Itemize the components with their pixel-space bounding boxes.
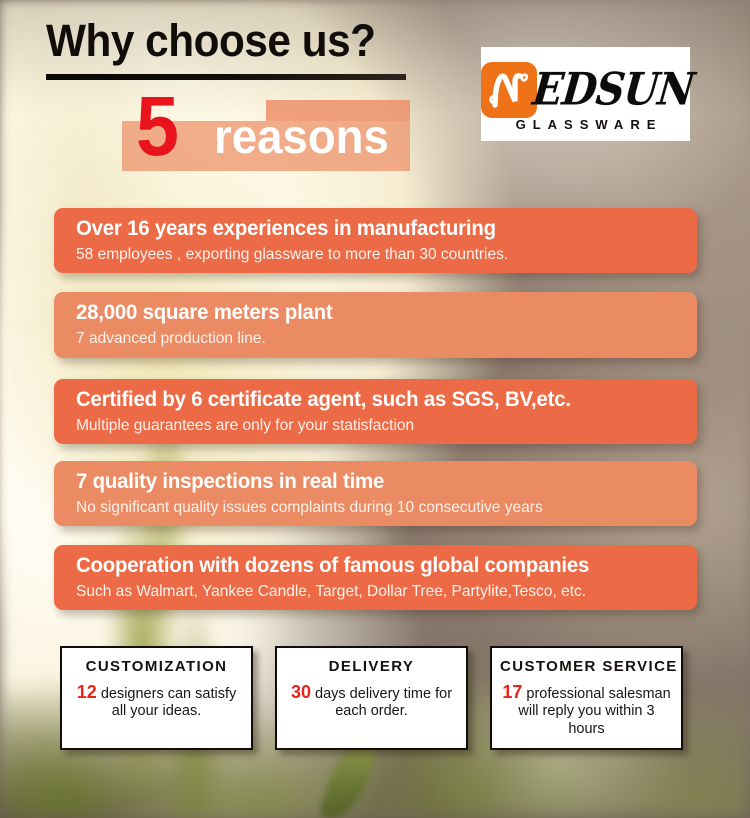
reason-bar-1: Over 16 years experiences in manufacturi… — [54, 208, 697, 273]
reason-title: Over 16 years experiences in manufacturi… — [76, 217, 678, 241]
reason-bar-2: 28,000 square meters plant7 advanced pro… — [54, 292, 697, 358]
reason-title: Cooperation with dozens of famous global… — [76, 554, 678, 578]
info-box-body: 17 professional salesman will reply you … — [500, 682, 673, 739]
info-box-body: 30 days delivery time for each order. — [285, 682, 458, 722]
info-box-text: professional salesman will reply you wit… — [518, 686, 670, 738]
info-box-3: CUSTOMER SERVICE17 professional salesman… — [490, 646, 683, 750]
reason-title: 28,000 square meters plant — [76, 301, 678, 325]
info-box-1: CUSTOMIZATION12 designers can satisfy al… — [60, 646, 253, 750]
reason-subtitle: Multiple guarantees are only for your st… — [76, 416, 678, 435]
page-title: Why choose us? — [46, 18, 376, 63]
info-box-text: days delivery time for each order. — [311, 686, 452, 720]
reason-bar-3: Certified by 6 certificate agent, such a… — [54, 379, 697, 444]
info-box-text: designers can satisfy all your ideas. — [97, 686, 236, 720]
info-box-title: DELIVERY — [285, 659, 458, 676]
logo-tagline: GLASSWARE — [509, 117, 663, 132]
reason-subtitle: 58 employees , exporting glassware to mo… — [76, 245, 678, 264]
info-box-title: CUSTOMIZATION — [70, 659, 243, 676]
info-box-number: 12 — [77, 682, 97, 702]
reason-title: 7 quality inspections in real time — [76, 470, 678, 494]
reason-bar-4: 7 quality inspections in real timeNo sig… — [54, 461, 697, 526]
reason-subtitle: 7 advanced production line. — [76, 329, 678, 348]
title-underline-rule — [46, 74, 406, 80]
reason-count-number: 5 — [136, 84, 179, 168]
company-logo: EDSUN GLASSWARE — [481, 47, 690, 141]
info-box-number: 17 — [502, 682, 522, 702]
reason-bar-5: Cooperation with dozens of famous global… — [54, 545, 697, 610]
info-box-2: DELIVERY30 days delivery time for each o… — [275, 646, 468, 750]
reason-subtitle: Such as Walmart, Yankee Candle, Target, … — [76, 582, 678, 601]
infographic-poster: Why choose us? 5 reasons EDSUN GLASSWARE — [0, 0, 750, 818]
logo-n-monogram-icon — [481, 62, 537, 118]
header: Why choose us? 5 reasons EDSUN GLASSWARE — [0, 0, 750, 190]
info-box-title: CUSTOMER SERVICE — [500, 659, 673, 676]
logo-wordmark: EDSUN — [530, 63, 696, 116]
reason-subtitle: No significant quality issues complaints… — [76, 498, 678, 517]
reason-title: Certified by 6 certificate agent, such a… — [76, 388, 678, 412]
info-boxes: CUSTOMIZATION12 designers can satisfy al… — [0, 646, 750, 756]
reason-count-label: reasons — [214, 114, 389, 162]
logo-row: EDSUN — [477, 59, 694, 121]
info-box-number: 30 — [291, 682, 311, 702]
info-box-body: 12 designers can satisfy all your ideas. — [70, 682, 243, 722]
